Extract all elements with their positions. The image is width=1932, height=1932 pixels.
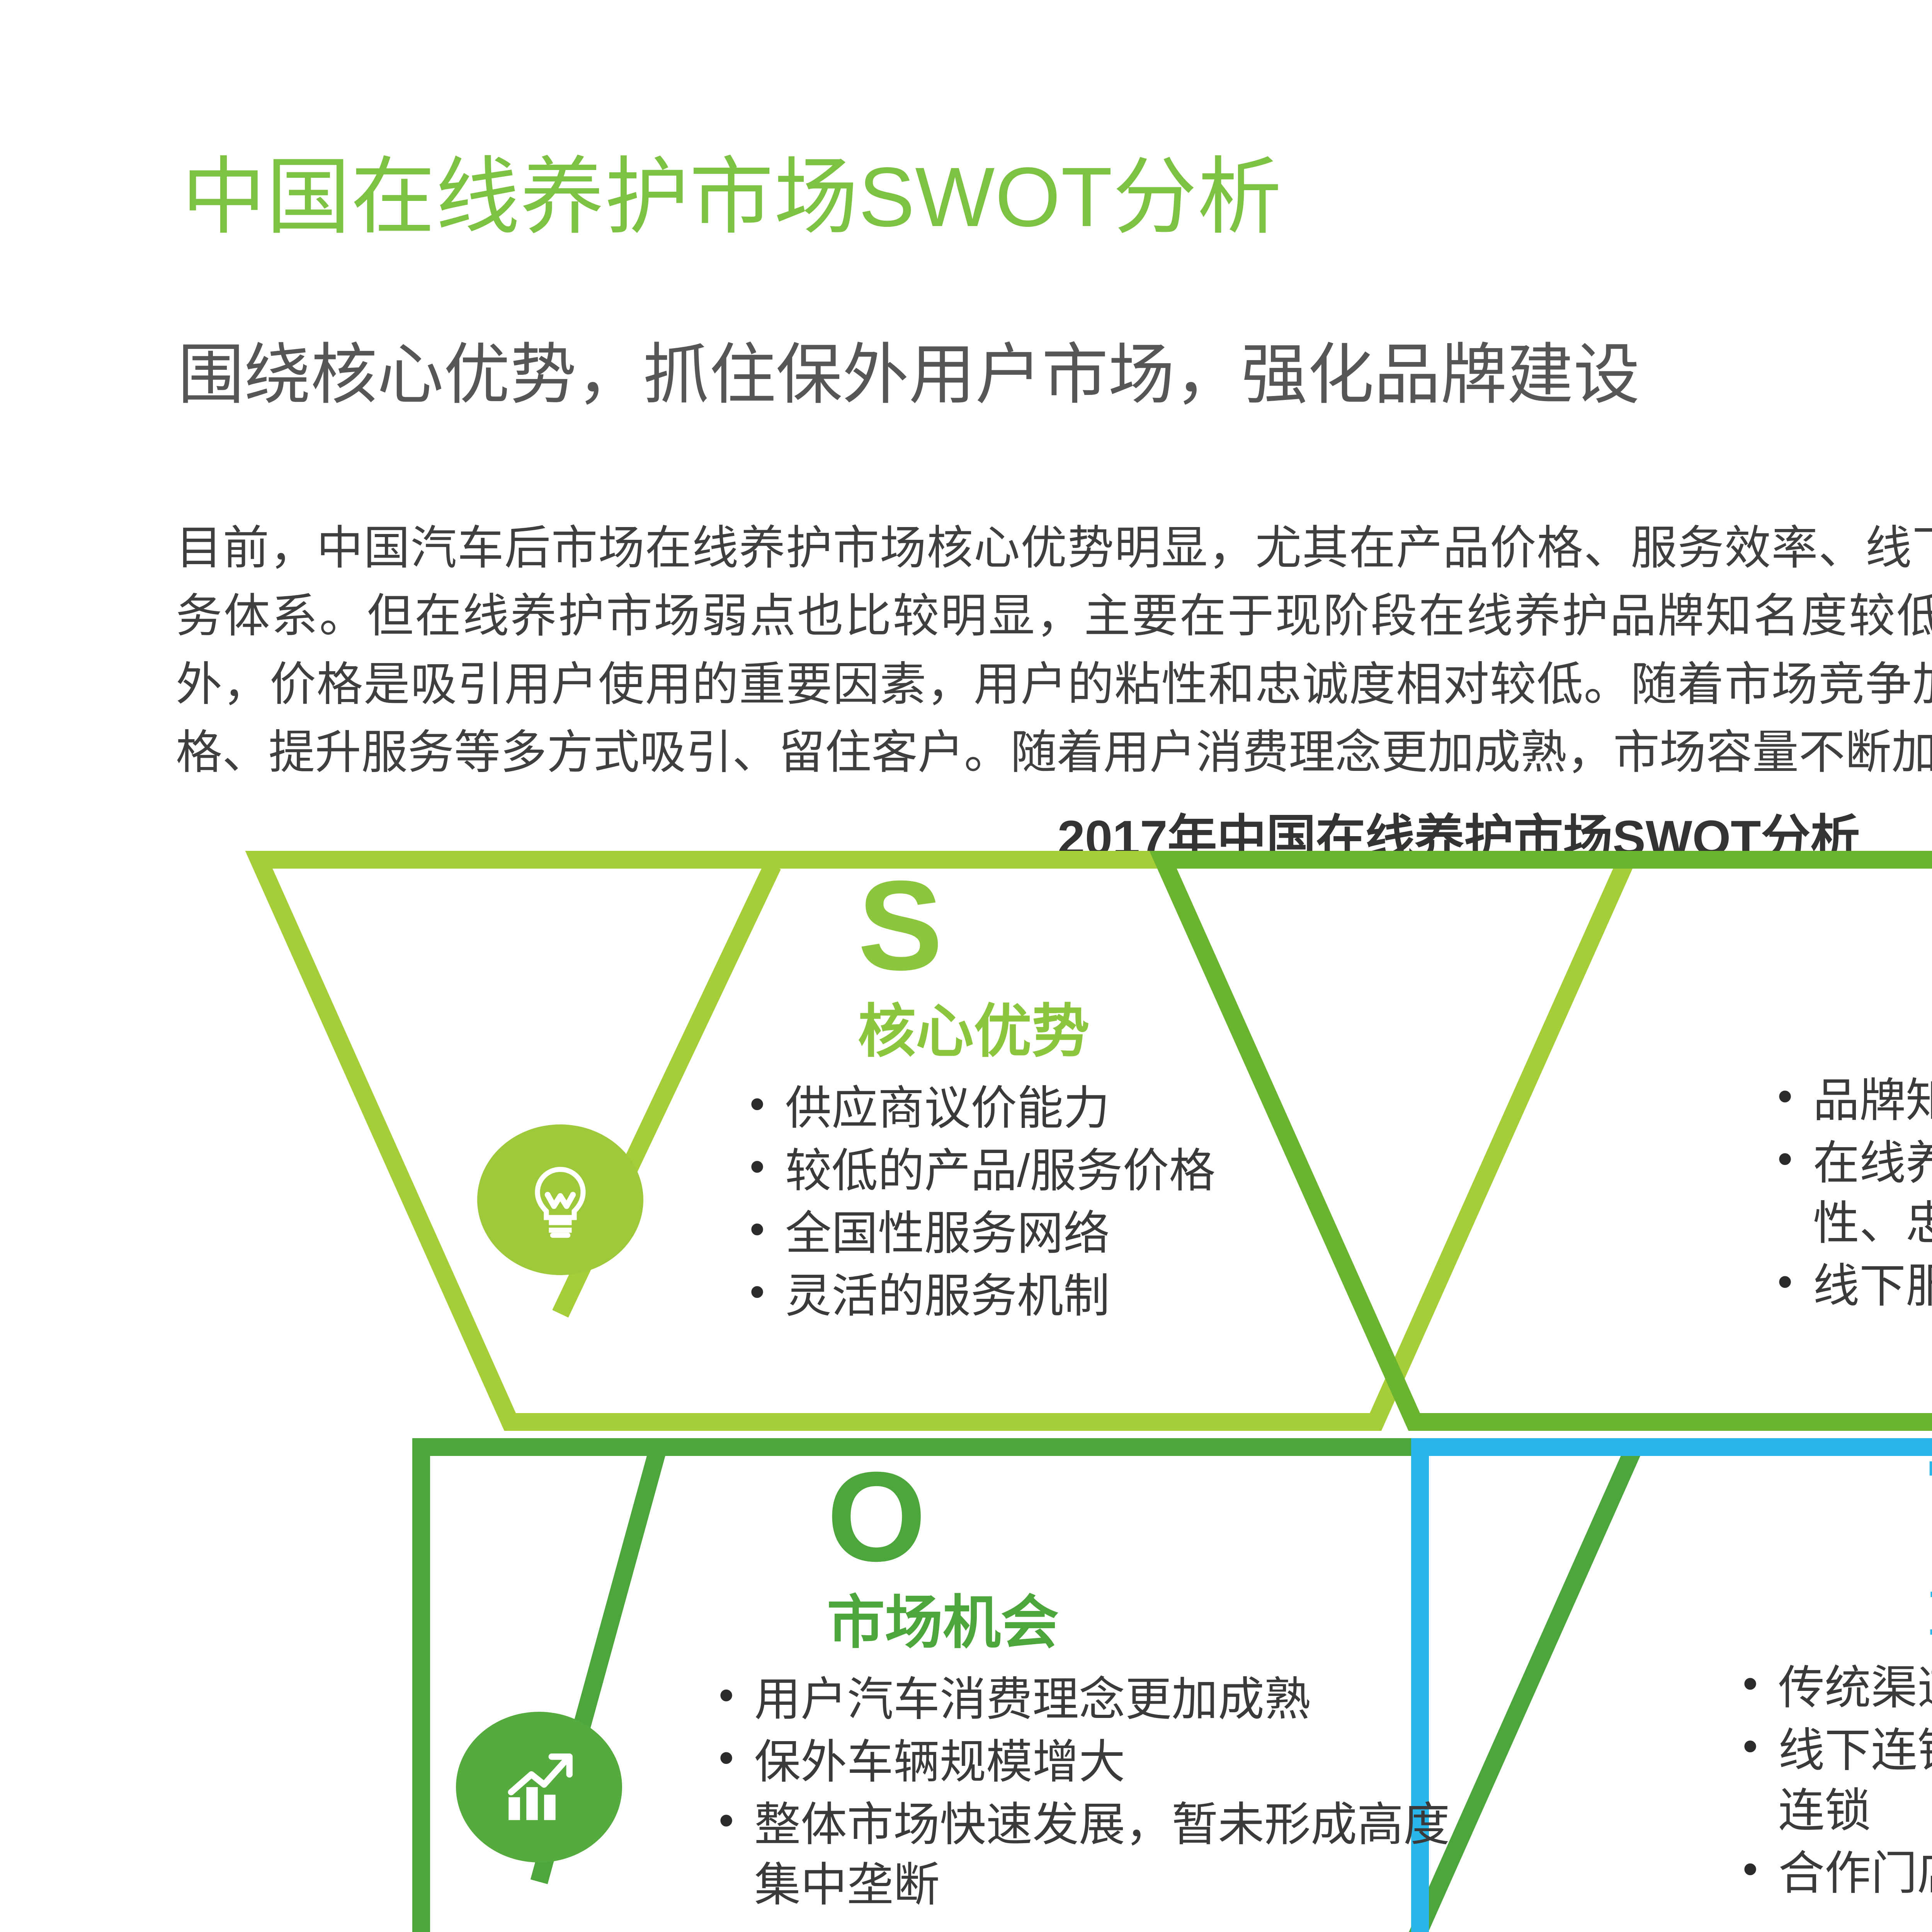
strengths-letter-row: S 核心优势 [734, 862, 1507, 1060]
swot-quadrant-opportunities: O 市场机会 用户汽车消费理念更加成熟 保外车辆规模增大 整体市场快速发展，暂未… [703, 1453, 1495, 1917]
threats-heading: 重要威胁 [1928, 1582, 1932, 1640]
weaknesses-list: 品牌知名度较低 在线养车观念尚未养成，用户粘性、忠诚度低 线下服务把控力较弱 [1762, 1070, 1932, 1316]
page-title: 中国在线养护市场SWOT分析 [182, 153, 1282, 242]
swot-quadrant-threats: T 重要威胁 传统渠道价格下探 线下连锁企业加速布局，形成全国连锁 合作门店抢夺… [1727, 1441, 1932, 1906]
opportunities-letter: O [827, 1453, 1495, 1580]
opportunities-heading: 市场机会 [827, 1594, 1495, 1651]
list-item: 合作门店抢夺客源 [1727, 1843, 1932, 1903]
list-item: 整体市场快速发展，暂未形成高度集中垄断 [703, 1794, 1495, 1915]
threats-letter-row: T 重要威胁 [1727, 1441, 1932, 1640]
list-item: 灵活的服务机制 [734, 1266, 1507, 1326]
threats-list: 传统渠道价格下探 线下连锁企业加速布局，形成全国连锁 合作门店抢夺客源 [1727, 1658, 1932, 1903]
swot-quadrant-strengths: S 核心优势 供应商议价能力 较低的产品/服务价格 全国性服务网络 灵活的服务机… [734, 862, 1507, 1328]
list-item: 用户汽车消费理念更加成熟 [703, 1669, 1495, 1730]
list-item: 全国性服务网络 [734, 1203, 1507, 1264]
strengths-icon-badge [477, 1124, 643, 1275]
threats-letter: T [1928, 1441, 1932, 1569]
opportunities-letter-row: O 市场机会 [703, 1453, 1495, 1651]
growth-chart-icon [498, 1747, 580, 1828]
weaknesses-letter-row: W 主要弱点 [1762, 854, 1932, 1053]
strengths-heading: 核心优势 [858, 1002, 1507, 1060]
strengths-letter: S [858, 862, 1507, 989]
body-paragraph: 目前，中国汽车后市场在线养护市场核心优势明显，尤其在产品价格、服务效率、线下服务… [176, 514, 1932, 787]
strengths-list: 供应商议价能力 较低的产品/服务价格 全国性服务网络 灵活的服务机制 [734, 1078, 1507, 1326]
list-item: 线下连锁企业加速布局，形成全国连锁 [1727, 1720, 1932, 1841]
list-item: 较低的产品/服务价格 [734, 1141, 1507, 1201]
swot-diagram: S 核心优势 供应商议价能力 较低的产品/服务价格 全国性服务网络 灵活的服务机… [0, 838, 1932, 1932]
list-item: 品牌知名度较低 [1762, 1070, 1932, 1131]
list-item: 线下服务把控力较弱 [1762, 1256, 1932, 1316]
opportunities-list: 用户汽车消费理念更加成熟 保外车辆规模增大 整体市场快速发展，暂未形成高度集中垄… [703, 1669, 1495, 1915]
opportunities-icon-badge [456, 1712, 622, 1862]
list-item: 保外车辆规模增大 [703, 1732, 1495, 1792]
list-item: 传统渠道价格下探 [1727, 1658, 1932, 1718]
swot-quadrant-weaknesses: W 主要弱点 品牌知名度较低 在线养车观念尚未养成，用户粘性、忠诚度低 线下服务… [1762, 854, 1932, 1318]
lightbulb-icon [520, 1159, 601, 1240]
list-item: 在线养车观念尚未养成，用户粘性、忠诚度低 [1762, 1133, 1932, 1253]
page-subtitle: 围绕核心优势，抓住保外用户市场，强化品牌建设 [178, 340, 1640, 410]
slide-page: 中国在线养护市场SWOT分析 围绕核心优势，抓住保外用户市场，强化品牌建设 Re… [0, 0, 1932, 1932]
list-item: 供应商议价能力 [734, 1078, 1507, 1138]
